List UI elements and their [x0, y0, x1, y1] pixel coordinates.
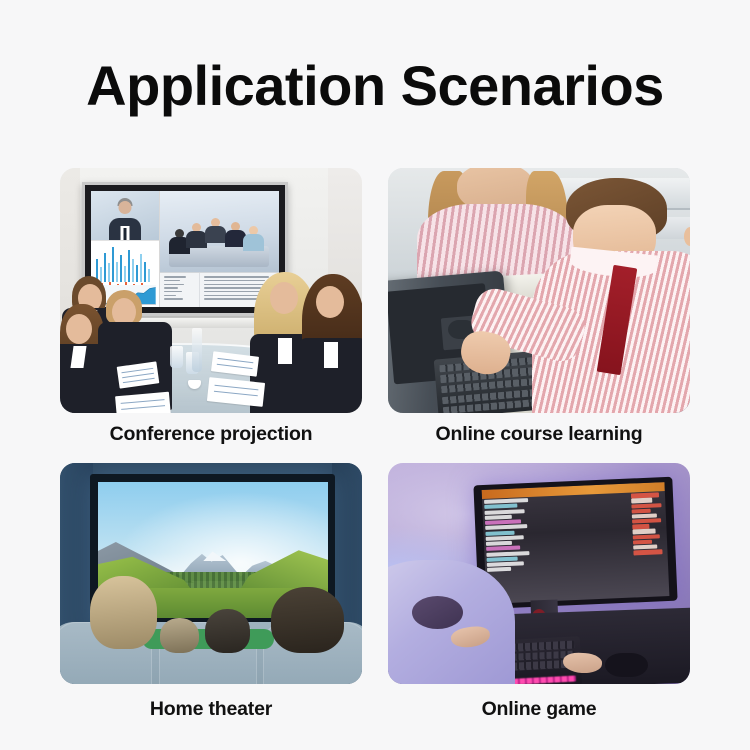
- viewer-adult-right: [271, 587, 343, 653]
- scenario-card-conference-projection[interactable]: Conference projection: [60, 168, 362, 446]
- application-scenarios-page: Application Scenarios: [0, 0, 750, 750]
- scenario-card-online-course-learning[interactable]: Online course learning: [388, 168, 690, 446]
- online-course-learning-image: [388, 168, 690, 413]
- home-theater-image: [60, 463, 362, 684]
- viewer-adult-left: [90, 576, 156, 649]
- main-video-feed: [160, 191, 279, 272]
- page-title: Application Scenarios: [0, 57, 750, 116]
- caption-home-theater: Home theater: [60, 698, 362, 721]
- carafe: [192, 328, 202, 372]
- viewer-child-2: [205, 609, 250, 653]
- attendee-right-brunette: [300, 274, 362, 413]
- conference-room-scene: [60, 168, 362, 413]
- student-boy: [521, 178, 690, 413]
- caption-online-course-learning: Online course learning: [388, 423, 690, 446]
- computer-lab-scene: [388, 168, 690, 413]
- thumbnail-tie: [123, 228, 126, 240]
- game-right-text-column: [630, 492, 667, 595]
- caption-online-game: Online game: [388, 698, 690, 721]
- online-game-image: [388, 463, 690, 684]
- water-glass-1: [170, 346, 183, 368]
- gaming-scene: [388, 463, 690, 684]
- hoodie-elbow-patch: [412, 596, 463, 629]
- thumbnail-head: [118, 201, 131, 214]
- video-thumbnail-panel: [91, 191, 159, 240]
- game-screen: [481, 482, 669, 604]
- conference-projection-image: [60, 168, 362, 413]
- viewer-child-1: [160, 618, 199, 653]
- scenario-card-home-theater[interactable]: Home theater: [60, 463, 362, 721]
- boy-ear: [684, 227, 690, 247]
- gaming-mouse: [605, 653, 647, 677]
- document-2: [115, 392, 171, 413]
- scenario-card-online-game[interactable]: Online game: [388, 463, 690, 721]
- home-theater-scene: [60, 463, 362, 684]
- caption-conference-projection: Conference projection: [60, 423, 362, 446]
